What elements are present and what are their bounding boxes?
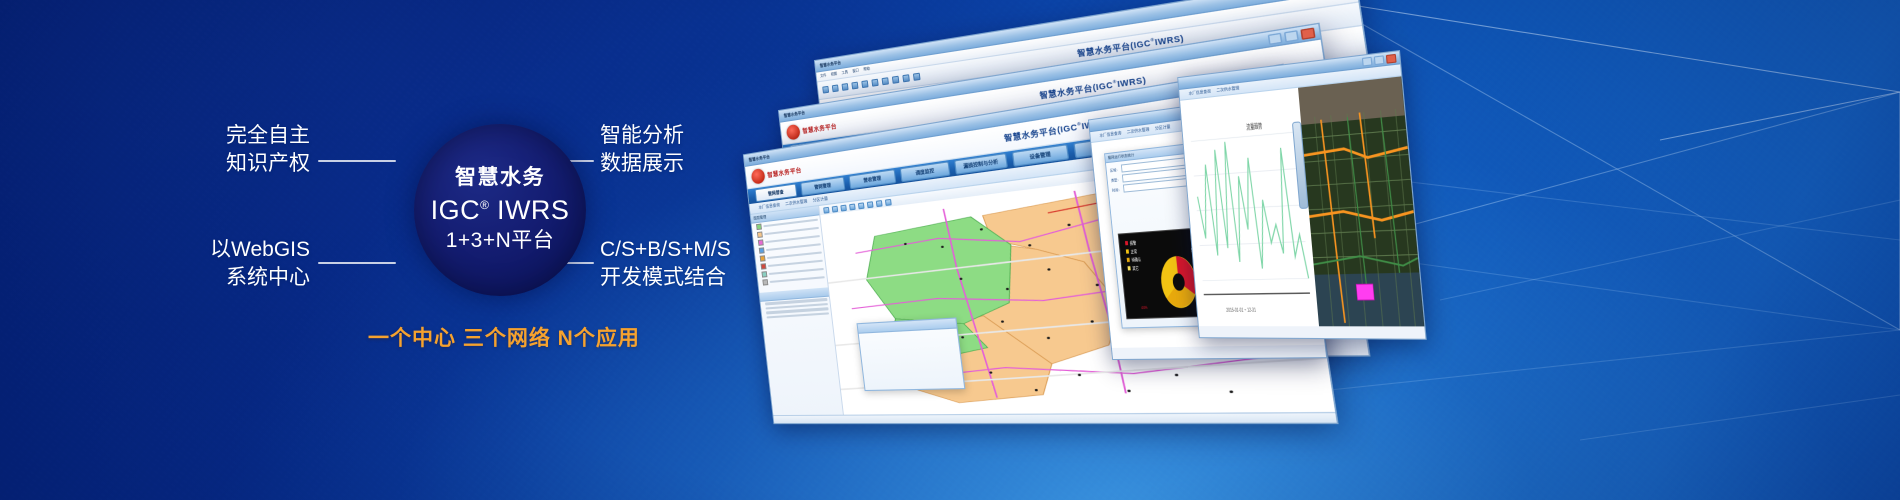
measure-icon[interactable]: [858, 202, 865, 209]
registered-icon: ®: [480, 198, 489, 212]
feature-label-top-left: 完全自主 知识产权: [180, 122, 310, 177]
feature-tr-line2: 数据展示: [600, 150, 684, 178]
hub-iwrs: IWRS: [497, 195, 570, 225]
trend-tool-1[interactable]: 二次供水管理: [1216, 85, 1239, 94]
select-icon[interactable]: [849, 203, 856, 210]
svg-text:报警: 报警: [1129, 240, 1136, 246]
stat-field-2: 时间：: [1112, 187, 1122, 193]
tool-icon-d[interactable]: [851, 82, 858, 90]
legend-swatch: [761, 263, 767, 269]
maximize-icon[interactable]: [1284, 29, 1299, 41]
banner-root: 智慧水务 IGC® IWRS 1+3+N平台 完全自主 知识产权 以WebGIS…: [0, 0, 1900, 500]
pan-icon[interactable]: [823, 206, 829, 213]
legend-swatch: [758, 239, 764, 246]
stat-field-0: 区域：: [1110, 167, 1120, 173]
zoom-in-icon[interactable]: [832, 205, 838, 212]
feature-tl-line2: 知识产权: [180, 150, 310, 178]
feature-label-bottom-left: 以WebGIS 系统中心: [170, 236, 310, 291]
feature-label-bottom-right: C/S+B/S+M/S 开发模式结合: [600, 236, 731, 291]
sub-tab-gis-0[interactable]: 水厂信息查询: [758, 202, 780, 211]
svg-text:待确认: 待确认: [1131, 256, 1141, 263]
tool-icon-a[interactable]: [822, 86, 829, 94]
menu-item-2[interactable]: 工具: [841, 70, 848, 76]
screenshot-stack: 智慧水务平台 文件 视图 工具 窗口 帮助 智慧水务平台: [780, 0, 1900, 500]
maximize-icon[interactable]: [1374, 55, 1385, 65]
print-icon[interactable]: [876, 199, 883, 206]
close-icon[interactable]: [1300, 27, 1315, 39]
legend-swatch: [757, 231, 763, 238]
connector-top-left: [318, 160, 396, 162]
feature-br-line2: 开发模式结合: [600, 264, 731, 292]
titlebar-title-gis: 智慧水务平台: [747, 153, 770, 163]
svg-text:其它: 其它: [1132, 265, 1139, 271]
tool-icon-e[interactable]: [861, 80, 868, 88]
tool-icon-g[interactable]: [882, 77, 889, 85]
svg-text:正常: 正常: [1130, 248, 1137, 254]
tool-icon-f[interactable]: [871, 79, 878, 87]
tool-icon-c[interactable]: [842, 83, 849, 91]
hub-title: 智慧水务: [455, 166, 545, 191]
layers-icon[interactable]: [885, 198, 892, 205]
pipe-info-dialog[interactable]: [856, 318, 965, 391]
trend-tool-0[interactable]: 水厂信息查询: [1188, 88, 1211, 96]
company-logo-icon: [786, 123, 801, 140]
legend-swatch: [760, 255, 766, 261]
legend-swatch: [761, 271, 767, 277]
brand-text-gis: 智慧水务平台: [767, 165, 802, 179]
zoom-out-icon[interactable]: [840, 204, 847, 211]
central-hub-circle: 智慧水务 IGC® IWRS 1+3+N平台: [414, 124, 586, 296]
tool-icon-i[interactable]: [902, 74, 910, 82]
hub-igc: IGC: [431, 195, 481, 225]
tool-icon-b[interactable]: [832, 84, 839, 92]
svg-text:44%: 44%: [1141, 304, 1148, 310]
satellite-map-canvas[interactable]: [1298, 76, 1424, 326]
feature-bl-line1: 以WebGIS: [170, 236, 310, 264]
charts-tool-2[interactable]: 分区计量: [1155, 124, 1171, 132]
hub-product-name: IGC® IWRS: [431, 195, 570, 227]
window-controls-trend[interactable]: [1362, 53, 1397, 66]
line-chart-xlabel-text: 2015-01-01 ~ 12-31: [1226, 307, 1256, 315]
titlebar-title-middle: 智慧水务平台: [782, 109, 805, 118]
close-icon[interactable]: [1386, 53, 1397, 63]
sub-tab-gis-1[interactable]: 二次供水管理: [785, 198, 808, 207]
feature-tl-line1: 完全自主: [180, 122, 310, 150]
minimize-icon[interactable]: [1362, 56, 1373, 66]
legend-swatch: [762, 279, 768, 285]
legend-swatch: [759, 247, 765, 254]
satellite-map-pane[interactable]: [1298, 76, 1424, 326]
menu-item-0[interactable]: 文件: [820, 73, 827, 79]
company-logo-icon: [751, 167, 766, 184]
feature-br-line1: C/S+B/S+M/S: [600, 236, 731, 264]
charts-tool-0[interactable]: 水厂信息查询: [1099, 130, 1121, 139]
connector-bottom-left: [318, 262, 396, 264]
identify-icon[interactable]: [867, 201, 874, 208]
sub-tab-gis-2[interactable]: 分区计量: [812, 196, 828, 204]
menu-item-1[interactable]: 视图: [831, 72, 838, 78]
minimize-icon[interactable]: [1268, 32, 1283, 44]
menu-item-4[interactable]: 帮助: [863, 67, 870, 73]
charts-tool-1[interactable]: 二次供水管理: [1127, 126, 1150, 135]
feature-label-top-right: 智能分析 数据展示: [600, 122, 684, 177]
feature-tr-line1: 智能分析: [600, 122, 684, 150]
hub-platform: 1+3+N平台: [446, 229, 555, 254]
feature-bl-line2: 系统中心: [170, 264, 310, 292]
brand-text-middle: 智慧水务平台: [802, 121, 837, 135]
tool-icon-h[interactable]: [892, 76, 899, 84]
stat-field-1: 类型：: [1111, 177, 1121, 183]
legend-swatch: [756, 224, 762, 231]
tool-icon-j[interactable]: [913, 73, 921, 81]
app-window-trend[interactable]: 水厂信息查询 二次供水管理 流量趋势: [1177, 50, 1427, 340]
titlebar-title: 智慧水务平台: [818, 59, 841, 68]
menu-item-3[interactable]: 窗口: [852, 68, 859, 74]
tagline: 一个中心 三个网络 N个应用: [368, 322, 640, 352]
